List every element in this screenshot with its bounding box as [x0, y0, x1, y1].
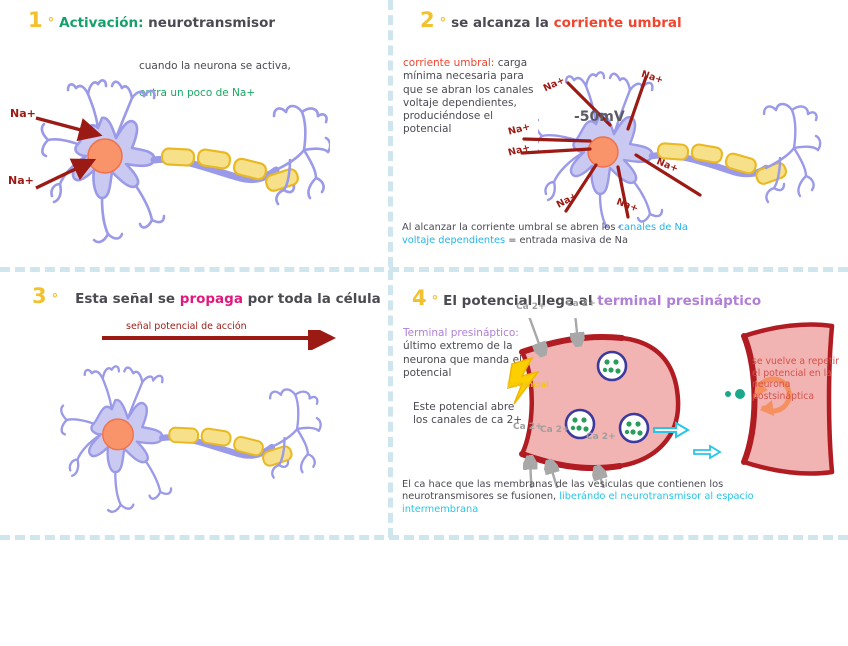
- panel-3-title-part-3: por toda la célula: [243, 291, 381, 307]
- panel-4-calcium-label-1: Ca 2+: [516, 302, 546, 312]
- panel-terminal-presinaptico: 4° El potencial llega al terminal presin…: [388, 270, 848, 535]
- panel-1-ion-label-na-1: Na+: [10, 107, 36, 120]
- panel-1-title: Activación: neurotransmisor: [59, 15, 275, 31]
- panel-4-body-highlight: Terminal presináptico:: [403, 327, 519, 339]
- panel-2-step-number: 2: [420, 8, 435, 32]
- panel-4-degree-symbol: °: [432, 294, 439, 309]
- panel-3-neuron-figure: [40, 348, 340, 528]
- panel-2-body-highlight: corriente umbral:: [403, 57, 494, 69]
- panel-4-potential-label: potencial: [507, 380, 549, 389]
- panel-1-degree-symbol: °: [48, 16, 55, 31]
- receptor-icon: [725, 389, 745, 399]
- panel-2-heading: 2° se alcanza la corriente umbral: [420, 8, 682, 32]
- panel-4-calcium-label-5: Ca 2+: [586, 432, 616, 442]
- infographic-canvas: 1° Activación: neurotransmisor cuando la…: [0, 0, 848, 646]
- panel-1-step-number: 1: [28, 8, 43, 32]
- panel-1-heading: 1° Activación: neurotransmisor: [28, 8, 275, 32]
- panel-4-calcium-label-2: Ca 2+: [566, 299, 596, 309]
- panel-3-heading: 3° Esta señal se propaga por toda la cél…: [32, 284, 381, 308]
- panel-3-step-number: 3: [32, 284, 47, 308]
- panel-2-caption-seg-1: Al alcanzar la corriente umbral se abren…: [402, 222, 619, 233]
- panel-propagacion: 3° Esta señal se propaga por toda la cél…: [0, 270, 388, 535]
- panel-2-title-part-2: corriente umbral: [554, 15, 682, 31]
- panel-2-title-part-1: se alcanza la: [451, 15, 553, 31]
- panel-4-body-rest: último extremo de la neurona que manda e…: [403, 340, 522, 378]
- panel-3-degree-symbol: °: [52, 292, 59, 307]
- panel-2-caption-seg-3: voltaje dependientes: [402, 235, 505, 246]
- divider-horizontal-bottom: [0, 535, 848, 540]
- panel-4-caption: El ca hace que las membranas de las vesi…: [402, 466, 842, 516]
- panel-3-propagation-arrow: [100, 330, 350, 350]
- panel-4-step-number: 4: [412, 286, 427, 310]
- panel-1-title-part-1: Activación:: [59, 15, 143, 31]
- panel-4-title-part-2: terminal presináptico: [597, 293, 761, 309]
- panel-2-caption: Al alcanzar la corriente umbral se abren…: [402, 222, 842, 247]
- panel-2-caption-seg-2: canales de Na: [619, 222, 688, 233]
- panel-4-repeat-label: se vuelve a repetir el potencial en la n…: [752, 356, 839, 402]
- panel-2-voltage-label: -50mV: [574, 109, 625, 125]
- panel-4-synapse-figure: [506, 318, 846, 488]
- panel-2-title: se alcanza la corriente umbral: [451, 15, 682, 31]
- panel-4-title: El potencial llega al terminal presinápt…: [443, 293, 761, 309]
- panel-corriente-umbral: 2° se alcanza la corriente umbral corrie…: [388, 0, 848, 267]
- panel-4-calcium-label-3: Ca 2+: [513, 422, 543, 432]
- panel-activacion: 1° Activación: neurotransmisor cuando la…: [0, 0, 388, 267]
- panel-1-ion-label-na-2: Na+: [8, 174, 34, 187]
- panel-1-title-part-2: neurotransmisor: [143, 15, 275, 31]
- panel-3-title-part-1: Esta señal se: [75, 291, 180, 307]
- cleft-arrow-icon: [694, 446, 720, 458]
- panel-3-title: Esta señal se propaga por toda la célula: [75, 291, 381, 307]
- panel-3-nucleus: [103, 419, 134, 450]
- panel-2-degree-symbol: °: [440, 16, 447, 31]
- panel-3-title-part-2: propaga: [180, 291, 243, 307]
- panel-2-caption-seg-4: = entrada masiva de Na: [505, 235, 628, 246]
- panel-4-calcium-label-4: Ca 2+: [540, 425, 570, 435]
